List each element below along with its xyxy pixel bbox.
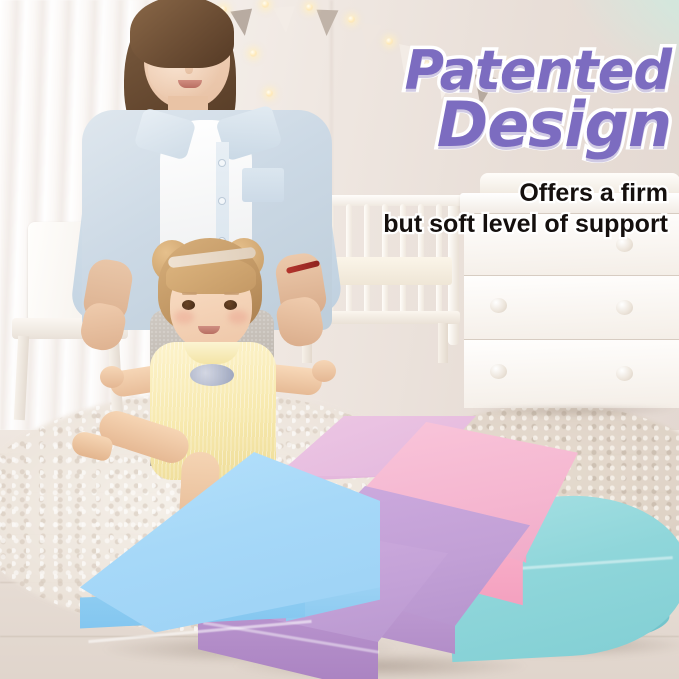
drawer-knob: [616, 300, 633, 315]
foam-climbing-play-set: [80, 418, 679, 679]
drawer-knob: [490, 364, 507, 379]
dresser-drawer: [464, 339, 679, 408]
drawer-knob: [490, 298, 507, 313]
headline-line-2: Design: [355, 96, 671, 153]
mother-hair-front: [130, 0, 234, 68]
crib-foot: [438, 323, 448, 363]
drawer-knob: [616, 366, 633, 381]
fairy-light-bulb: [386, 38, 393, 45]
toddler-eyebrow: [182, 292, 197, 295]
dresser-drawer: [464, 275, 679, 340]
product-lifestyle-image: Patented Design Offers a firm but soft l…: [0, 0, 679, 679]
drawer-knob: [616, 237, 633, 252]
shirt-button: [219, 198, 225, 204]
mother-shirt-pocket: [242, 168, 284, 202]
toddler-hand-right: [312, 360, 336, 382]
fairy-light-bulb: [348, 16, 355, 23]
shirt-button: [219, 160, 225, 166]
subheadline-text: Offers a firm but soft level of support: [330, 178, 668, 239]
toddler-eye: [224, 300, 237, 310]
headline-text: Patented Design: [355, 46, 671, 153]
subheadline-line-2: but soft level of support: [330, 209, 668, 240]
toddler-cheek-right: [228, 310, 248, 324]
subheadline-line-1: Offers a firm: [330, 178, 668, 209]
toddler-cheek-left: [174, 310, 194, 324]
toddler-romper-applique: [190, 364, 234, 386]
chair-leg: [14, 336, 29, 420]
toddler-eyebrow: [224, 292, 239, 295]
toddler-eye: [182, 300, 195, 310]
toddler-hand-left: [100, 366, 124, 388]
